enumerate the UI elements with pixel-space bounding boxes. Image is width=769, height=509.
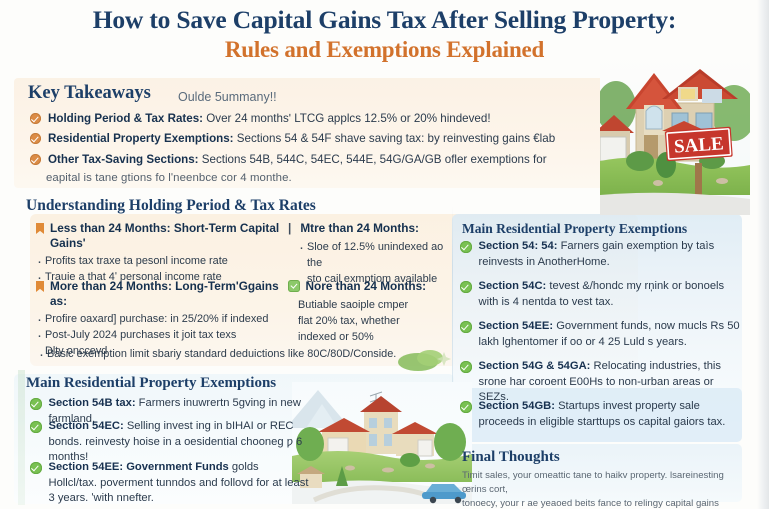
plain-line: indexed or 50%: [298, 330, 448, 346]
key-takeaway-body-1: Over 24 monthsʹ LTCG applcs 12.5% or 20%…: [206, 112, 490, 125]
right-exemptions-heading: Main Residential Property Exemptions: [462, 221, 687, 237]
sale-sign-text: SALE: [673, 133, 724, 157]
exemption-text-section-54ee: Section 54EE: Government funds, now mucl…: [479, 319, 743, 350]
plain-line: flat 20% tax, whether: [298, 314, 448, 330]
holding-period-right-head-text-1: Mtre than 24 Months:: [300, 221, 419, 236]
exemption-label-section-54ee-funds: Section 54EE: Government Funds: [49, 461, 229, 473]
exemption-label-section-54: Section 54: 54:: [479, 240, 558, 252]
key-takeaway-text-2: Residential Property Exemptions: Section…: [48, 131, 555, 146]
exemption-text-section-54ec: Section 54EC: Selling invest ing in bIHA…: [49, 419, 321, 466]
infographic-page: How to Save Capital Gains Tax After Sell…: [0, 0, 769, 509]
page-title: How to Save Capital Gains Tax After Sell…: [0, 6, 769, 65]
left-accent-strip: [18, 370, 25, 505]
check-circle-orange-icon: [30, 154, 41, 165]
exemption-label-section-54ee: Section 54EE:: [479, 320, 554, 332]
bullet: Post-July 2024 purchases it joit tax tex…: [36, 328, 286, 344]
page-title-line-2: Rules and Exemptions Explained: [0, 36, 769, 65]
key-takeaway-text-3: Other Tax-Saving Sections: Sections 54B,…: [48, 152, 547, 167]
bullet: Sloe of 12.5% unindexed ao the: [298, 240, 448, 272]
holding-period-left-head-1: Less than 24 Months: Short-Term Capital …: [36, 221, 286, 250]
key-takeaway-body-3: Sections 54B, 544C, 54EC, 544E, 54G/GA/G…: [202, 153, 547, 166]
key-takeaway-item-2: Residential Property Exemptions: Section…: [30, 131, 630, 146]
key-takeaway-label-1: Holding Period & Tax Rates:: [48, 112, 203, 125]
exemption-label-section-54b: Section 54B tax:: [49, 397, 136, 409]
final-thoughts-line-2: tonoecy, your r ae yeaoed beits fance to…: [462, 497, 740, 509]
exemption-label-section-54ec: Section 54EC:: [49, 420, 124, 432]
holding-period-heading: Understanding Holding Period & Tax Rates: [26, 197, 316, 215]
exemption-item-section-54ec: Section 54EC: Selling invest ing in bIHA…: [30, 419, 320, 466]
badge-green-check-icon: [288, 280, 300, 292]
exemption-item-section-54ee: Section 54EE: Government funds, now mucl…: [460, 319, 742, 350]
holding-period-right-head-2: Nore than 24 Months:: [288, 279, 448, 294]
exemption-item-section-54: Section 54: 54: Farners gain exemption b…: [460, 239, 742, 270]
exemption-text-section-54c: Section 54C: tevest &/hondc my rņink or …: [479, 279, 743, 310]
exemption-item-section-54gb: Section 54GB: Startups invest property s…: [460, 399, 742, 430]
check-circle-green-icon: [30, 462, 42, 474]
holding-period-right-bullets-2: Butiable saoiple cmper flat 20% tax, whe…: [298, 298, 448, 346]
check-circle-green-icon: [30, 398, 42, 410]
holding-period-right-block-2: Nore than 24 Months: Butiable saoiple cm…: [288, 279, 448, 346]
exemption-item-section-54c: Section 54C: tevest &/hondc my rņink or …: [460, 279, 742, 310]
key-takeaways-continuation-text: eapital is tane gtions fo lʹneenbce cor …: [46, 172, 292, 184]
holding-period-right-head-1: | Mtre than 24 Months:: [288, 221, 448, 236]
bookmark-orange-icon: [36, 281, 44, 292]
left-exemptions-heading: Main Residential Property Exemptions: [26, 375, 276, 392]
check-circle-green-icon: [460, 401, 472, 413]
exemption-label-section-54c: Section 54C:: [479, 280, 547, 292]
key-takeaway-item-3: Other Tax-Saving Sections: Sections 54B,…: [30, 152, 630, 167]
key-takeaway-item-1: Holding Period & Tax Rates: Over 24 mont…: [30, 111, 630, 126]
exemption-label-section-54g-54ga: Section 54G & 54GA:: [479, 360, 591, 372]
check-circle-green-icon: [460, 321, 472, 333]
check-circle-green-icon: [460, 361, 472, 373]
exemption-label-section-54gb: Section 54GB:: [479, 400, 555, 412]
exemption-text-section-54gb: Section 54GB: Startups invest property s…: [479, 399, 743, 430]
pipe-separator-icon: |: [288, 221, 291, 236]
key-takeaways-subheading: Oulde 5ummany!!: [178, 90, 277, 104]
exemption-item-section-54ee-funds: Section 54EE: Government Funds golds Hol…: [30, 460, 310, 507]
bullet: Profits tax traxe ta pesonl income rate: [36, 254, 286, 270]
exemption-text-section-54: Section 54: 54: Farners gain exemption b…: [479, 239, 743, 270]
page-right-edge-shadow: [757, 0, 769, 509]
check-circle-orange-icon: [30, 113, 41, 124]
holding-period-left-head-text-2: More than 24 Months: Long-TermʹGgains as…: [50, 279, 286, 308]
final-thoughts-heading: Final Thoughts: [462, 449, 560, 466]
check-circle-green-icon: [460, 241, 472, 253]
holding-period-left-head-2: More than 24 Months: Long-TermʹGgains as…: [36, 279, 286, 308]
page-title-line-1: How to Save Capital Gains Tax After Sell…: [0, 6, 769, 34]
holding-period-footer-bullet: Basic exemption limit sbariy standard de…: [38, 347, 438, 363]
holding-period-left-block-1: Less than 24 Months: Short-Term Capital …: [36, 221, 286, 286]
check-circle-green-icon: [460, 281, 472, 293]
check-circle-green-icon: [30, 421, 42, 433]
key-takeaway-label-3: Other Tax-Saving Sections:: [48, 153, 199, 166]
bookmark-orange-icon: [36, 223, 44, 234]
key-takeaways-heading: Key Takeaways: [28, 83, 151, 104]
holding-period-right-head-text-2: Nore than 24 Months:: [306, 279, 427, 294]
key-takeaway-label-2: Residential Property Exemptions:: [48, 132, 234, 145]
holding-period-left-head-text-1: Less than 24 Months: Short-Term Capital …: [50, 221, 286, 250]
key-takeaway-text-1: Holding Period & Tax Rates: Over 24 mont…: [48, 111, 491, 126]
final-thoughts-line-1: Timit sales, your omeattic tane to haikv…: [462, 469, 740, 497]
plain-line: Butiable saoiple cmper: [298, 298, 448, 314]
exemption-text-section-54ee-funds: Section 54EE: Government Funds golds Hol…: [49, 460, 311, 507]
key-takeaway-body-2: Sections 54 & 54F shave saving tax: by r…: [237, 132, 555, 145]
check-circle-orange-icon: [30, 133, 41, 144]
holding-period-right-block-1: | Mtre than 24 Months: Sloe of 12.5% uni…: [288, 221, 448, 288]
bullet: Profire oaxard] purchase: in 25/20% if i…: [36, 312, 286, 328]
final-thoughts-body: Timit sales, your omeattic tane to haikv…: [462, 469, 740, 509]
